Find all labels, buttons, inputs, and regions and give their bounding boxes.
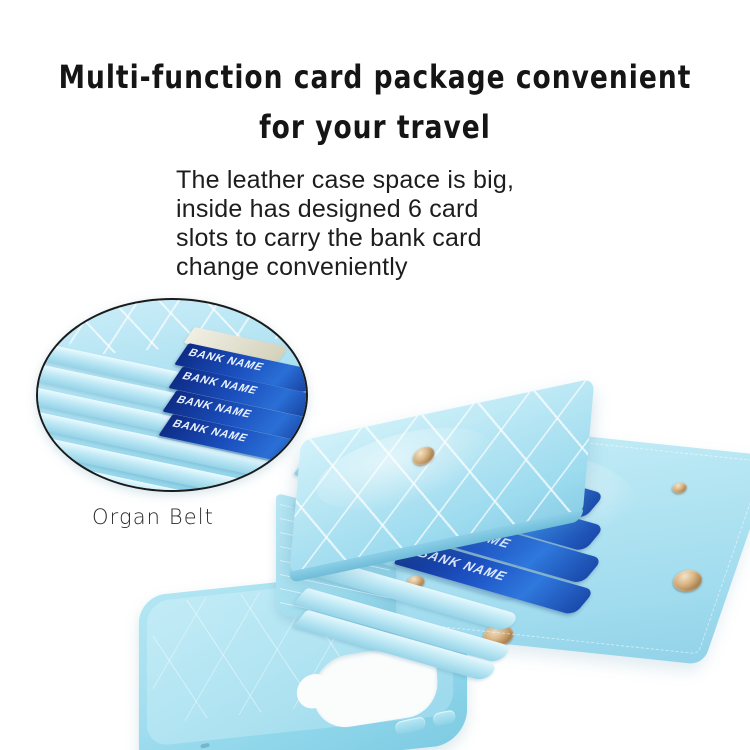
headline-line-1: Multi-function card package convenient xyxy=(30,52,720,102)
page-title: Multi-function card package convenient f… xyxy=(30,52,720,152)
description-line-3: slots to carry the bank card xyxy=(176,224,596,253)
product-marketing-image: Multi-function card package convenient f… xyxy=(0,0,750,750)
description-line-4: change conveniently xyxy=(176,253,596,282)
case-side-button-volume-down xyxy=(433,709,456,726)
detail-inset-organ-belt: BANK NAME BANK NAME BANK NAME BANK NAME xyxy=(36,298,308,492)
headline-line-2: for your travel xyxy=(30,102,720,152)
snap-button-top-right xyxy=(671,482,689,494)
description-line-1: The leather case space is big, xyxy=(176,166,596,195)
snap-button-bottom-right xyxy=(670,569,705,593)
description-text: The leather case space is big, inside ha… xyxy=(176,166,596,282)
inset-caption: Organ Belt xyxy=(92,505,214,529)
case-microphone-hole xyxy=(200,743,209,749)
description-line-2: inside has designed 6 card xyxy=(176,195,596,224)
